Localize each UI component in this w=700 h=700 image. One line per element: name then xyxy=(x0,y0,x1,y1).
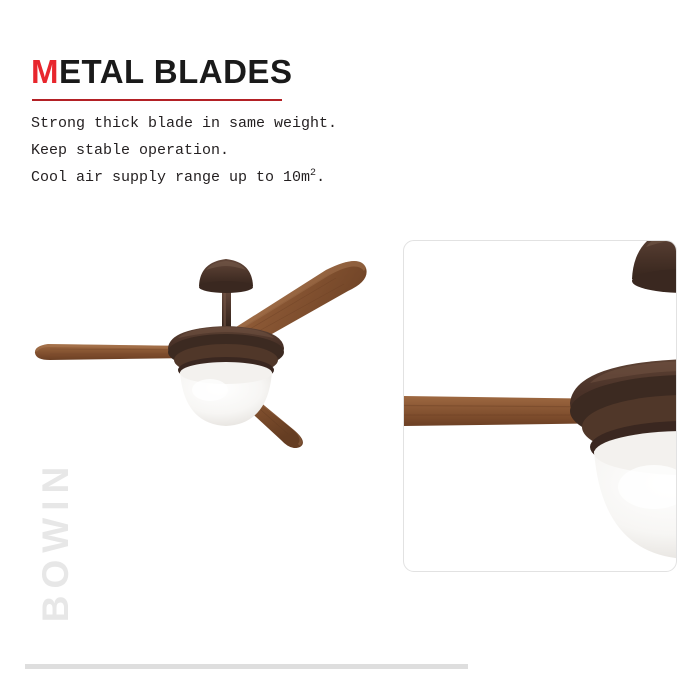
feature-line-3-suffix: . xyxy=(316,169,325,186)
feature-line-3: Cool air supply range up to 10m2. xyxy=(31,164,431,191)
footer-divider xyxy=(25,664,468,669)
fan-ceiling-canopy xyxy=(199,259,253,293)
fan-light-dome-zoom xyxy=(594,431,677,559)
page-title: METAL BLADES xyxy=(31,52,292,92)
page-title-text: METAL BLADES xyxy=(31,52,292,92)
product-feature-panel: METAL BLADES Strong thick blade in same … xyxy=(0,0,700,700)
product-image-detail xyxy=(403,240,677,572)
brand-watermark: BOWIN xyxy=(35,441,77,641)
fan-downrod-highlight xyxy=(224,290,226,332)
page-title-lead-char: M xyxy=(31,53,59,90)
page-title-rest: ETAL BLADES xyxy=(59,53,292,90)
product-image-detail-card xyxy=(403,240,677,572)
fan-downrod xyxy=(222,290,231,332)
product-image-main xyxy=(26,248,386,448)
ceiling-fan-illustration-zoom xyxy=(403,240,677,572)
feature-line-1: Strong thick blade in same weight. xyxy=(31,110,431,137)
feature-line-2: Keep stable operation. xyxy=(31,137,431,164)
feature-line-3-text: Cool air supply range up to 10m xyxy=(31,169,310,186)
fan-ceiling-canopy-zoom xyxy=(632,240,677,293)
feature-description: Strong thick blade in same weight. Keep … xyxy=(31,110,431,191)
title-underline xyxy=(32,99,282,101)
ceiling-fan-illustration xyxy=(26,248,386,448)
